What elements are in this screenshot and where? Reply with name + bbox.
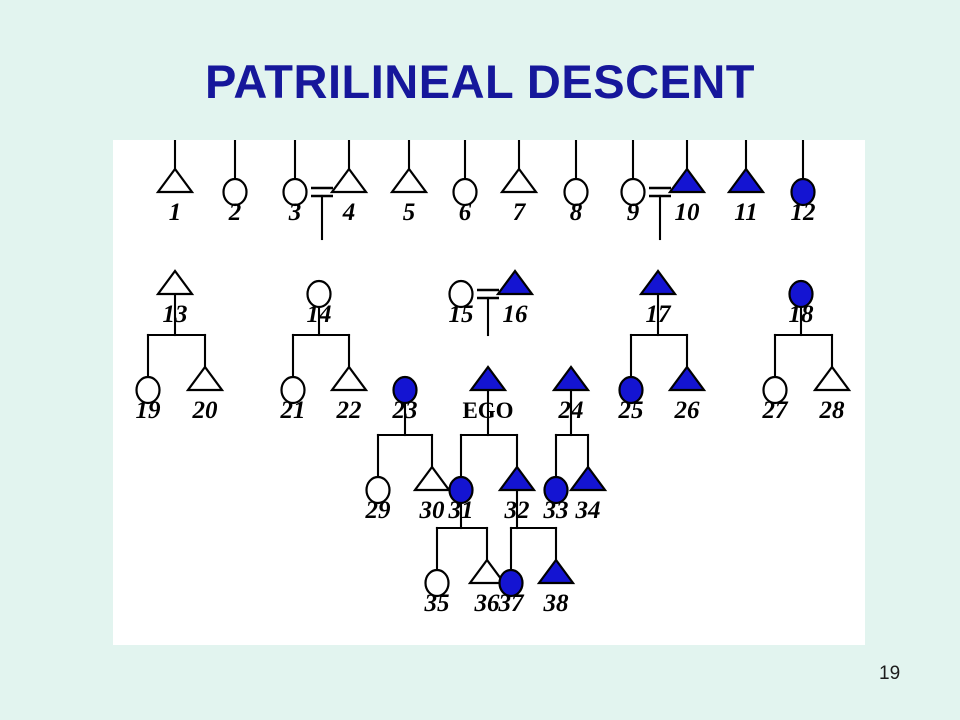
male-node-26-icon bbox=[670, 367, 704, 390]
node-label-24: 24 bbox=[558, 397, 584, 424]
node-label-1: 1 bbox=[169, 199, 182, 226]
node-label-37: 37 bbox=[498, 590, 526, 617]
male-node-28-icon bbox=[815, 367, 849, 390]
male-node-16-icon bbox=[498, 271, 532, 294]
node-label-11: 11 bbox=[734, 199, 758, 226]
node-label-23: 23 bbox=[392, 397, 418, 424]
node-label-28: 28 bbox=[819, 397, 846, 424]
kinship-chart: 1234567891011121314151617181920212223EGO… bbox=[113, 140, 865, 645]
node-label-34: 34 bbox=[575, 497, 601, 524]
male-node-34-icon bbox=[571, 467, 605, 490]
node-label-38: 38 bbox=[543, 590, 570, 617]
slide-number: 19 bbox=[879, 663, 900, 685]
node-label-29: 29 bbox=[365, 497, 392, 524]
male-node-38-icon bbox=[539, 560, 573, 583]
male-node-22-icon bbox=[332, 367, 366, 390]
node-label-21: 21 bbox=[280, 397, 306, 424]
node-label-4: 4 bbox=[342, 199, 356, 226]
node-label-26: 26 bbox=[674, 397, 701, 424]
node-label-15: 15 bbox=[449, 301, 474, 328]
male-node-7-icon bbox=[502, 169, 536, 192]
node-label-31: 31 bbox=[448, 497, 474, 524]
node-label-27: 27 bbox=[762, 397, 790, 424]
male-node-20-icon bbox=[188, 367, 222, 390]
node-label-20: 20 bbox=[192, 397, 219, 424]
kinship-labels: 1234567891011121314151617181920212223EGO… bbox=[136, 199, 846, 617]
male-node-30-icon bbox=[415, 467, 449, 490]
node-label-36: 36 bbox=[474, 590, 501, 617]
male-node-10-icon bbox=[670, 169, 704, 192]
kinship-links bbox=[148, 140, 832, 570]
male-node-11-icon bbox=[729, 169, 763, 192]
node-label-16: 16 bbox=[503, 301, 529, 328]
node-label-10: 10 bbox=[675, 199, 701, 226]
page-title: PATRILINEAL DESCENT bbox=[0, 57, 960, 106]
node-label-2: 2 bbox=[228, 199, 242, 226]
male-node-32-icon bbox=[500, 467, 534, 490]
node-label-19: 19 bbox=[136, 397, 162, 424]
node-label-3: 3 bbox=[288, 199, 302, 226]
node-label-8: 8 bbox=[570, 199, 583, 226]
node-label-5: 5 bbox=[403, 199, 416, 226]
node-label-18: 18 bbox=[789, 301, 815, 328]
node-label-25: 25 bbox=[618, 397, 644, 424]
male-node-5-icon bbox=[392, 169, 426, 192]
kinship-diagram-panel: 1234567891011121314151617181920212223EGO… bbox=[113, 140, 865, 645]
node-label-13: 13 bbox=[163, 301, 188, 328]
node-label-14: 14 bbox=[307, 301, 332, 328]
kinship-nodes bbox=[137, 169, 850, 596]
node-label-30: 30 bbox=[419, 497, 446, 524]
node-label-32: 32 bbox=[504, 497, 530, 524]
male-node-4-icon bbox=[332, 169, 366, 192]
node-label-7: 7 bbox=[513, 199, 527, 226]
male-node-24-icon bbox=[554, 367, 588, 390]
node-label-22: 22 bbox=[336, 397, 362, 424]
node-label-6: 6 bbox=[459, 199, 472, 226]
male-node-13-icon bbox=[158, 271, 192, 294]
male-node-17-icon bbox=[641, 271, 675, 294]
slide-canvas: PATRILINEAL DESCENT 12345678910111213141… bbox=[0, 0, 960, 720]
node-label-33: 33 bbox=[543, 497, 569, 524]
node-label-9: 9 bbox=[627, 199, 640, 226]
male-node-1-icon bbox=[158, 169, 192, 192]
male-node-ego-icon bbox=[471, 367, 505, 390]
node-label-35: 35 bbox=[424, 590, 450, 617]
node-label-17: 17 bbox=[646, 301, 673, 328]
node-label-ego: EGO bbox=[462, 398, 513, 423]
node-label-12: 12 bbox=[791, 199, 816, 226]
